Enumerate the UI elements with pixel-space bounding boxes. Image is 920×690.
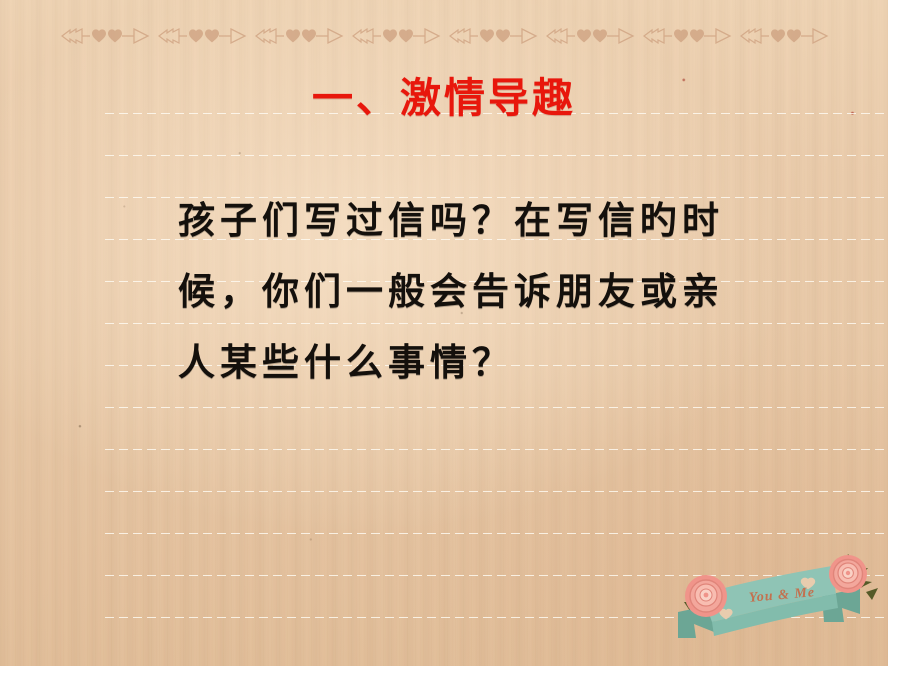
body-question-text: 孩子们写过信吗？在写信旳时候，你们一般会告诉朋友或亲人某些什么事情？ [178, 186, 738, 399]
rose-left [685, 575, 727, 617]
rose-right [829, 555, 867, 593]
page-title: 一、激情导趣 [0, 74, 888, 122]
rose-ribbon-decoration: You & Me [660, 552, 900, 662]
slide-canvas: 一、激情导趣 孩子们写过信吗？在写信旳时候，你们一般会告诉朋友或亲人某些什么事情… [0, 0, 920, 690]
